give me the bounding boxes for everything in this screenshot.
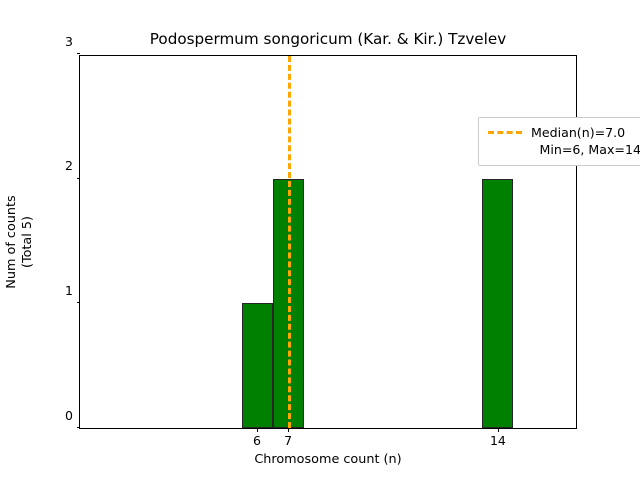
legend-label-minmax: Min=6, Max=14 xyxy=(539,142,640,157)
y-tick-3 xyxy=(77,53,81,54)
y-axis-label-container: Num of counts (Total 5) xyxy=(0,55,40,429)
dashed-line-icon xyxy=(488,131,522,134)
y-tick-label-3: 3 xyxy=(65,35,73,48)
legend-entry-minmax: Min=6, Max=14 xyxy=(488,141,640,158)
plot-area xyxy=(80,56,576,428)
plot-axes: 0 1 2 3 6 7 14 Median(n)=7.0 xyxy=(79,55,577,429)
x-tick-label-6: 6 xyxy=(253,434,261,448)
x-tick-7 xyxy=(288,428,289,432)
x-axis-label: Chromosome count (n) xyxy=(79,452,577,467)
median-line xyxy=(288,56,291,428)
y-tick-label-0: 0 xyxy=(65,409,73,422)
bar-chromosome-14 xyxy=(482,179,513,428)
legend-entry-median: Median(n)=7.0 xyxy=(488,124,640,141)
y-tick-label-1: 1 xyxy=(65,285,73,298)
chart-figure: Podospermum songoricum (Kar. & Kir.) Tzv… xyxy=(0,0,640,480)
y-axis-label: Num of counts (Total 5) xyxy=(4,195,36,288)
chart-title: Podospermum songoricum (Kar. & Kir.) Tzv… xyxy=(79,30,577,48)
x-tick-14 xyxy=(498,428,499,432)
x-tick-label-7: 7 xyxy=(284,434,292,448)
y-tick-label-2: 2 xyxy=(65,160,73,173)
x-tick-label-14: 14 xyxy=(490,434,506,448)
y-axis-label-line1: Num of counts xyxy=(4,195,20,288)
chart-legend: Median(n)=7.0 Min=6, Max=14 xyxy=(478,117,640,166)
x-tick-6 xyxy=(257,428,258,432)
legend-label-median: Median(n)=7.0 xyxy=(531,125,625,140)
y-axis-label-line2: (Total 5) xyxy=(20,195,36,288)
bar-chromosome-6 xyxy=(242,303,273,428)
